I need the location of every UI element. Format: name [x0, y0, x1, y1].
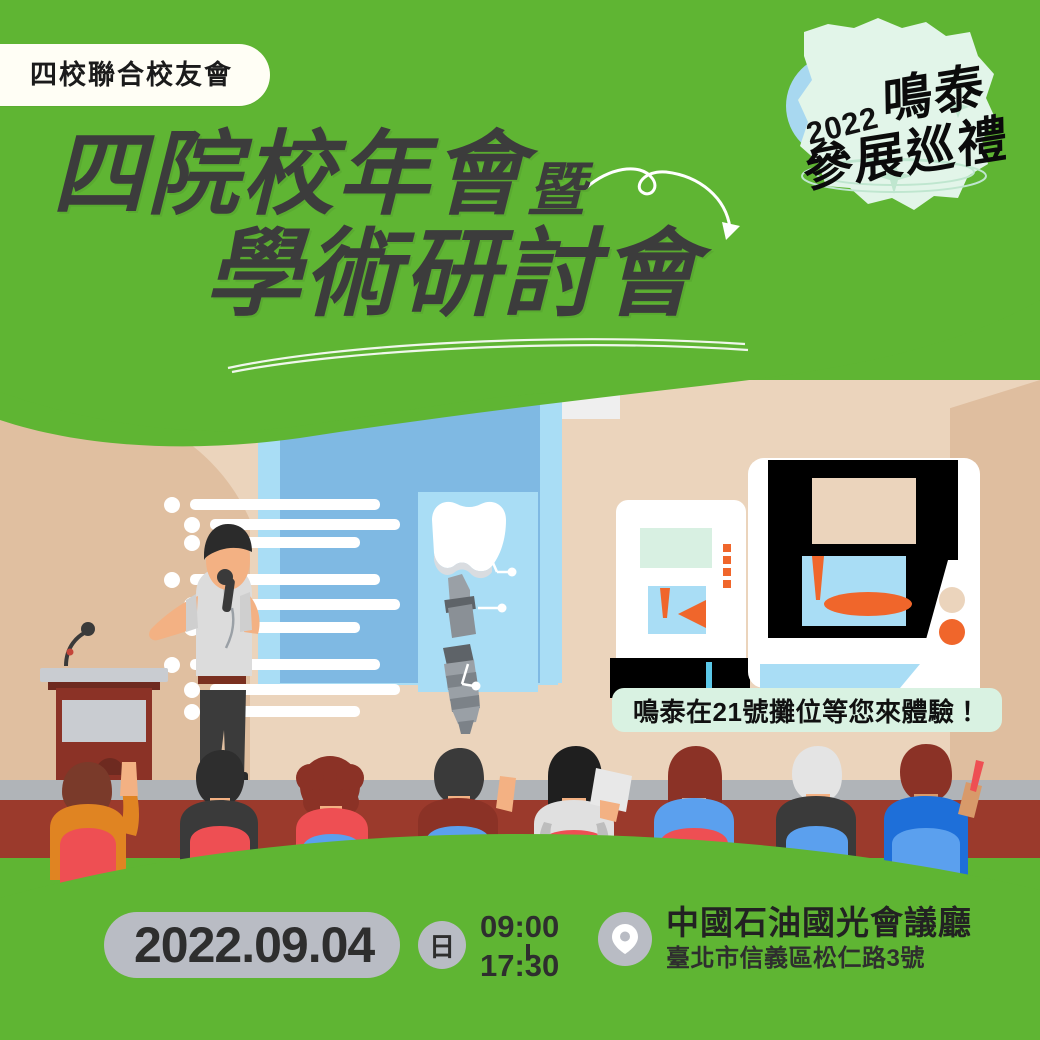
title-line-2: 學術研討會	[0, 228, 800, 322]
page-title: 四院校年會暨 學術研討會	[0, 130, 800, 322]
event-details-footer: 2022.09.04 日 09:00 17:30 中國石油國光會議廳 臺北市信義…	[0, 890, 1040, 1040]
venue-block: 中國石油國光會議廳 臺北市信義區松仁路3號	[598, 904, 972, 974]
weekday-chip: 日	[418, 921, 466, 969]
booth-banner-text: 鳴泰在21號攤位等您來體驗！	[633, 692, 981, 729]
booth-banner: 鳴泰在21號攤位等您來體驗！	[612, 688, 1002, 732]
time-separator	[526, 944, 530, 960]
time-start: 09:00	[480, 908, 580, 947]
organizer-badge: 四校聯合校友會	[0, 44, 270, 106]
title-line-1-main: 四院校年會	[52, 124, 527, 226]
location-pin-icon	[598, 912, 652, 966]
event-date: 2022.09.04	[134, 920, 374, 970]
exhibition-badge: 2022 鳴泰 參展巡禮	[782, 22, 1032, 232]
title-line-1: 四院校年會暨	[0, 130, 800, 220]
venue-address: 臺北市信義區松仁路3號	[666, 944, 972, 974]
event-time: 09:00 17:30	[480, 908, 580, 986]
event-poster: 四校聯合校友會 四院校年會暨 學術研討會 2022 鳴泰 參展巡禮 鳴泰在21號…	[0, 0, 1040, 1040]
date-chip: 2022.09.04	[104, 912, 400, 978]
organizer-badge-label: 四校聯合校友會	[30, 62, 233, 89]
event-weekday: 日	[429, 927, 455, 964]
time-end: 17:30	[480, 947, 580, 986]
title-line-1-small: 暨	[527, 158, 585, 223]
venue-name: 中國石油國光會議廳	[666, 904, 972, 942]
venue-text: 中國石油國光會議廳 臺北市信義區松仁路3號	[666, 904, 972, 974]
